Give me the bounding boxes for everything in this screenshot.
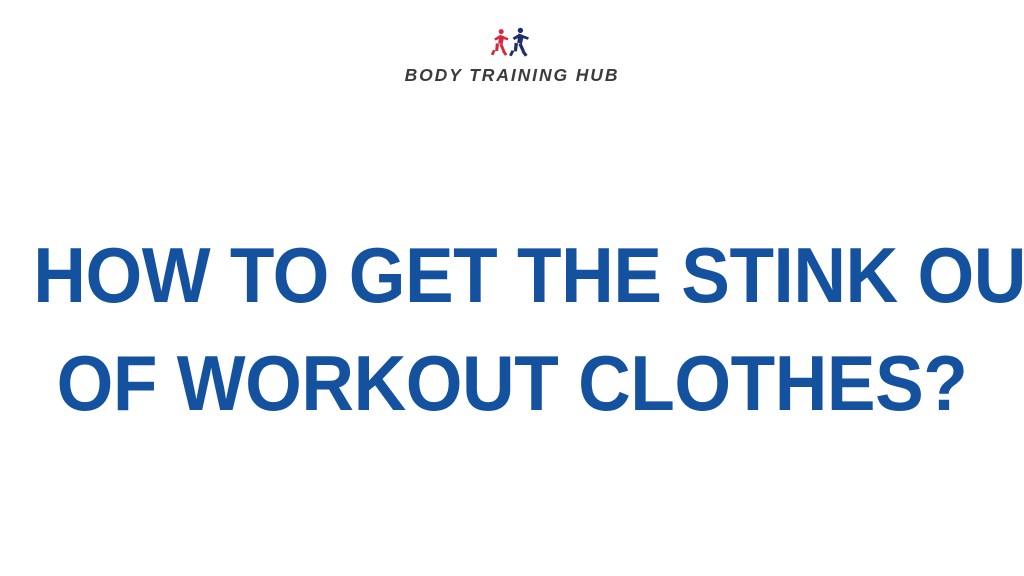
page-title-line-2: OF WORKOUT CLOTHES? <box>33 344 990 422</box>
two-runners-icon <box>490 26 534 60</box>
brand-logo[interactable]: BODY TRAINING HUB <box>0 26 1024 85</box>
brand-name: BODY TRAINING HUB <box>405 66 620 85</box>
page-title-line-1: HOW TO GET THE STINK OUT <box>33 236 990 314</box>
page-title: HOW TO GET THE STINK OUT OF WORKOUT CLOT… <box>0 236 1024 422</box>
article-header-banner: BODY TRAINING HUB HOW TO GET THE STINK O… <box>0 0 1024 576</box>
